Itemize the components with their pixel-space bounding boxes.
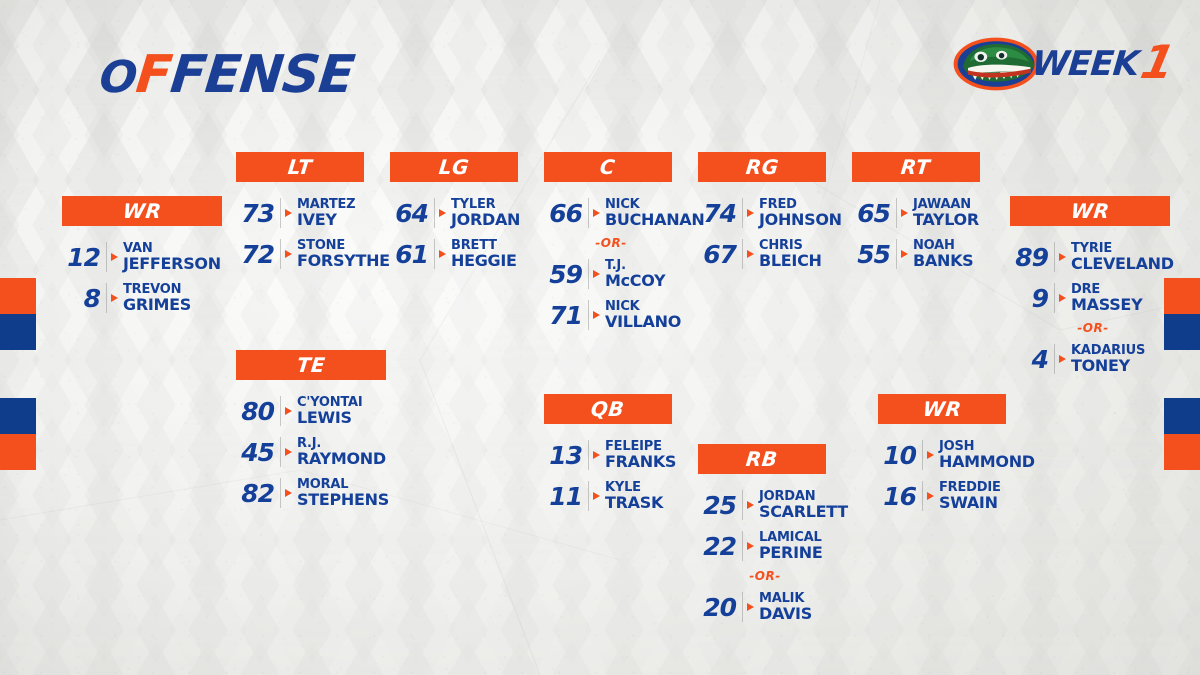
divider-rule (280, 396, 281, 426)
player-row: 4KADARIUSTONEY (1010, 344, 1170, 374)
position-label: RG (744, 155, 779, 179)
row-divider (742, 531, 754, 561)
divider-rule (1054, 283, 1055, 313)
jersey-number: 55 (852, 242, 890, 267)
jersey-number: 82 (236, 481, 274, 506)
jersey-number: 72 (236, 242, 274, 267)
row-divider (922, 481, 934, 511)
arrow-right-icon (747, 250, 754, 258)
player-last-name: BANKS (913, 253, 973, 269)
divider-rule (434, 239, 435, 269)
player-last-name: CLEVELAND (1071, 256, 1174, 272)
arrow-right-icon (901, 209, 908, 217)
player-name: TREVONGRIMES (123, 283, 191, 313)
jersey-number: 8 (62, 286, 100, 311)
player-name: BRETTHEGGIE (451, 239, 517, 269)
player-name: R.J.RAYMOND (297, 437, 386, 467)
divider-rule (742, 239, 743, 269)
jersey-number: 66 (544, 201, 582, 226)
arrow-right-icon (285, 407, 292, 415)
divider-rule (1054, 344, 1055, 374)
divider-rule (896, 239, 897, 269)
arrow-right-icon (285, 489, 292, 497)
player-row: 73MARTEZIVEY (236, 198, 364, 228)
row-divider (434, 198, 446, 228)
divider-rule (742, 592, 743, 622)
edge-mark-left-bottom (0, 398, 36, 470)
player-name: TYLERJORDAN (451, 198, 520, 228)
row-divider (742, 592, 754, 622)
position-group-qb: QB13FELEIPEFRANKS11KYLETRASK (544, 394, 672, 522)
player-row: 11KYLETRASK (544, 481, 672, 511)
jersey-number: 22 (698, 534, 736, 559)
jersey-number: 64 (390, 201, 428, 226)
row-divider (280, 478, 292, 508)
player-last-name: DAVIS (759, 606, 812, 622)
row-divider (588, 481, 600, 511)
player-row: 71NICKVILLANO (544, 300, 672, 330)
row-divider (742, 198, 754, 228)
player-name: NICKBUCHANAN (605, 198, 704, 228)
player-last-name: GRIMES (123, 297, 191, 313)
arrow-right-icon (111, 294, 118, 302)
divider-rule (588, 440, 589, 470)
player-name: FELEIPEFRANKS (605, 440, 676, 470)
gator-head-logo (952, 35, 1040, 93)
or-separator: -OR- (544, 236, 672, 250)
row-divider (106, 283, 118, 313)
arrow-right-icon (285, 448, 292, 456)
player-last-name: BLEICH (759, 253, 822, 269)
player-row: 22LAMICALPERINE (698, 531, 826, 561)
position-header-wr-right: WR (1010, 196, 1170, 226)
row-divider (1054, 242, 1066, 272)
arrow-right-icon (439, 209, 446, 217)
row-divider (896, 239, 908, 269)
jersey-number: 9 (1010, 286, 1048, 311)
arrow-right-icon (593, 451, 600, 459)
position-label: LT (287, 155, 314, 179)
player-last-name: HAMMOND (939, 454, 1035, 470)
player-name: KADARIUSTONEY (1071, 344, 1145, 374)
row-divider (896, 198, 908, 228)
position-label: WR (922, 397, 963, 421)
player-row: 55NOAHBANKS (852, 239, 980, 269)
player-last-name: HEGGIE (451, 253, 517, 269)
page-title: OFFENSE (97, 45, 357, 105)
position-header-wr-left: WR (62, 196, 222, 226)
player-row: 61BRETTHEGGIE (390, 239, 518, 269)
player-row: 45R.J.RAYMOND (236, 437, 386, 467)
player-name: CHRISBLEICH (759, 239, 822, 269)
player-last-name: LEWIS (297, 410, 363, 426)
arrow-right-icon (927, 451, 934, 459)
divider-rule (588, 481, 589, 511)
position-group-lg: LG64TYLERJORDAN61BRETTHEGGIE (390, 152, 518, 280)
player-row: 12VANJEFFERSON (62, 242, 222, 272)
arrow-right-icon (593, 492, 600, 500)
player-row: 59T.J.McCOY (544, 259, 672, 289)
player-last-name: BUCHANAN (605, 212, 704, 228)
position-label: QB (590, 397, 626, 421)
player-name: JAWAANTAYLOR (913, 198, 979, 228)
divider-rule (280, 478, 281, 508)
player-row: 67CHRISBLEICH (698, 239, 826, 269)
player-last-name: JORDAN (451, 212, 520, 228)
arrow-right-icon (747, 501, 754, 509)
position-header-rt: RT (852, 152, 980, 182)
position-header-rg: RG (698, 152, 826, 182)
player-row: 64TYLERJORDAN (390, 198, 518, 228)
row-divider (588, 198, 600, 228)
row-divider (588, 440, 600, 470)
player-row: 80C'YONTAILEWIS (236, 396, 386, 426)
row-divider (742, 239, 754, 269)
divider-rule (106, 283, 107, 313)
position-group-wr-left: WR12VANJEFFERSON8TREVONGRIMES (62, 196, 222, 324)
player-name: MALIKDAVIS (759, 592, 812, 622)
player-row: 13FELEIPEFRANKS (544, 440, 672, 470)
player-last-name: FORSYTHE (297, 253, 390, 269)
position-label: C (599, 155, 617, 179)
row-divider (280, 437, 292, 467)
position-header-qb: QB (544, 394, 672, 424)
player-last-name: TONEY (1071, 358, 1145, 374)
player-last-name: SCARLETT (759, 504, 848, 520)
divider-rule (742, 198, 743, 228)
arrow-right-icon (1059, 294, 1066, 302)
player-name: LAMICALPERINE (759, 531, 822, 561)
player-last-name: MASSEY (1071, 297, 1142, 313)
arrow-right-icon (901, 250, 908, 258)
depth-chart-graphic: OFFENSE WEEK 1 WR12VANJEFFERSON8TREVONGR… (0, 0, 1200, 675)
arrow-right-icon (593, 311, 600, 319)
player-row: 9DREMASSEY (1010, 283, 1170, 313)
position-group-te: TE80C'YONTAILEWIS45R.J.RAYMOND82MORALSTE… (236, 350, 386, 519)
position-label: WR (1070, 199, 1111, 223)
divider-rule (280, 239, 281, 269)
divider-rule (588, 300, 589, 330)
divider-rule (588, 259, 589, 289)
arrow-right-icon (747, 603, 754, 611)
or-separator: -OR- (1010, 321, 1170, 335)
position-label: RB (745, 447, 779, 471)
player-name: KYLETRASK (605, 481, 663, 511)
position-group-wr-right: WR89TYRIECLEVELAND9DREMASSEY-OR-4KADARIU… (1010, 196, 1170, 385)
player-last-name: JOHNSON (759, 212, 842, 228)
position-header-lg: LG (390, 152, 518, 182)
player-name: FREDDIESWAIN (939, 481, 1001, 511)
player-last-name: IVEY (297, 212, 355, 228)
player-name: TYRIECLEVELAND (1071, 242, 1174, 272)
jersey-number: 74 (698, 201, 736, 226)
player-last-name: RAYMOND (297, 451, 386, 467)
player-row: 16FREDDIESWAIN (878, 481, 1006, 511)
divider-rule (742, 531, 743, 561)
position-group-lt: LT73MARTEZIVEY72STONEFORSYTHE (236, 152, 364, 280)
divider-rule (106, 242, 107, 272)
position-label: RT (900, 155, 932, 179)
divider-rule (588, 198, 589, 228)
jersey-number: 13 (544, 443, 582, 468)
title-rest: FENSE (168, 45, 357, 105)
player-row: 25JORDANSCARLETT (698, 490, 826, 520)
jersey-number: 45 (236, 440, 274, 465)
jersey-number: 11 (544, 484, 582, 509)
player-name: VANJEFFERSON (123, 242, 221, 272)
row-divider (588, 259, 600, 289)
player-name: NICKVILLANO (605, 300, 681, 330)
player-row: 89TYRIECLEVELAND (1010, 242, 1170, 272)
jersey-number: 80 (236, 399, 274, 424)
divider-rule (280, 437, 281, 467)
divider-rule (742, 490, 743, 520)
divider-rule (1054, 242, 1055, 272)
player-last-name: SWAIN (939, 495, 1001, 511)
arrow-right-icon (439, 250, 446, 258)
player-name: DREMASSEY (1071, 283, 1142, 313)
player-row: 10JOSHHAMMOND (878, 440, 1006, 470)
arrow-right-icon (111, 253, 118, 261)
row-divider (922, 440, 934, 470)
arrow-right-icon (285, 209, 292, 217)
jersey-number: 89 (1010, 245, 1048, 270)
player-last-name: FRANKS (605, 454, 676, 470)
player-last-name: TRASK (605, 495, 663, 511)
title-letter-o: O (97, 52, 139, 103)
position-group-rg: RG74FREDJOHNSON67CHRISBLEICH (698, 152, 826, 280)
player-last-name: STEPHENS (297, 492, 389, 508)
row-divider (434, 239, 446, 269)
player-name: JORDANSCARLETT (759, 490, 848, 520)
jersey-number: 65 (852, 201, 890, 226)
row-divider (106, 242, 118, 272)
player-name: NOAHBANKS (913, 239, 973, 269)
player-name: FREDJOHNSON (759, 198, 842, 228)
player-last-name: PERINE (759, 545, 822, 561)
jersey-number: 71 (544, 303, 582, 328)
arrow-right-icon (285, 250, 292, 258)
position-label: WR (122, 199, 163, 223)
jersey-number: 20 (698, 595, 736, 620)
player-name: T.J.McCOY (605, 259, 665, 289)
player-last-name: TAYLOR (913, 212, 979, 228)
position-header-wr-bottom: WR (878, 394, 1006, 424)
row-divider (280, 239, 292, 269)
position-group-c: C66NICKBUCHANAN-OR-59T.J.McCOY71NICKVILL… (544, 152, 672, 341)
jersey-number: 4 (1010, 347, 1048, 372)
arrow-right-icon (1059, 355, 1066, 363)
player-name: MORALSTEPHENS (297, 478, 389, 508)
week-label: WEEK (1030, 44, 1140, 84)
position-group-wr-bottom: WR10JOSHHAMMOND16FREDDIESWAIN (878, 394, 1006, 522)
player-row: 74FREDJOHNSON (698, 198, 826, 228)
divider-rule (434, 198, 435, 228)
row-divider (1054, 283, 1066, 313)
row-divider (1054, 344, 1066, 374)
position-label: TE (296, 353, 327, 377)
row-divider (280, 396, 292, 426)
player-row: 66NICKBUCHANAN (544, 198, 672, 228)
jersey-number: 16 (878, 484, 916, 509)
edge-mark-right-bottom (1164, 398, 1200, 470)
position-group-rt: RT65JAWAANTAYLOR55NOAHBANKS (852, 152, 980, 280)
player-name: STONEFORSYTHE (297, 239, 390, 269)
player-last-name: VILLANO (605, 314, 681, 330)
week-number: 1 (1136, 35, 1177, 89)
arrow-right-icon (927, 492, 934, 500)
arrow-right-icon (1059, 253, 1066, 261)
player-row: 72STONEFORSYTHE (236, 239, 364, 269)
divider-rule (922, 481, 923, 511)
jersey-number: 12 (62, 245, 100, 270)
position-header-rb: RB (698, 444, 826, 474)
arrow-right-icon (593, 209, 600, 217)
jersey-number: 73 (236, 201, 274, 226)
jersey-number: 59 (544, 262, 582, 287)
arrow-right-icon (593, 270, 600, 278)
jersey-number: 67 (698, 242, 736, 267)
position-header-c: C (544, 152, 672, 182)
player-name: JOSHHAMMOND (939, 440, 1035, 470)
edge-mark-left-top (0, 278, 36, 350)
player-name: C'YONTAILEWIS (297, 396, 363, 426)
player-row: 20MALIKDAVIS (698, 592, 826, 622)
divider-rule (922, 440, 923, 470)
position-label: LG (438, 155, 471, 179)
position-header-te: TE (236, 350, 386, 380)
jersey-number: 10 (878, 443, 916, 468)
arrow-right-icon (747, 542, 754, 550)
player-row: 82MORALSTEPHENS (236, 478, 386, 508)
player-last-name: McCOY (605, 273, 665, 289)
position-group-rb: RB25JORDANSCARLETT22LAMICALPERINE-OR-20M… (698, 444, 826, 633)
divider-rule (280, 198, 281, 228)
row-divider (280, 198, 292, 228)
or-separator: -OR- (698, 569, 826, 583)
week-badge: WEEK 1 (952, 34, 1172, 94)
jersey-number: 25 (698, 493, 736, 518)
position-header-lt: LT (236, 152, 364, 182)
row-divider (742, 490, 754, 520)
player-name: MARTEZIVEY (297, 198, 355, 228)
jersey-number: 61 (390, 242, 428, 267)
player-row: 8TREVONGRIMES (62, 283, 222, 313)
row-divider (588, 300, 600, 330)
arrow-right-icon (747, 209, 754, 217)
player-row: 65JAWAANTAYLOR (852, 198, 980, 228)
divider-rule (896, 198, 897, 228)
player-last-name: JEFFERSON (123, 256, 221, 272)
